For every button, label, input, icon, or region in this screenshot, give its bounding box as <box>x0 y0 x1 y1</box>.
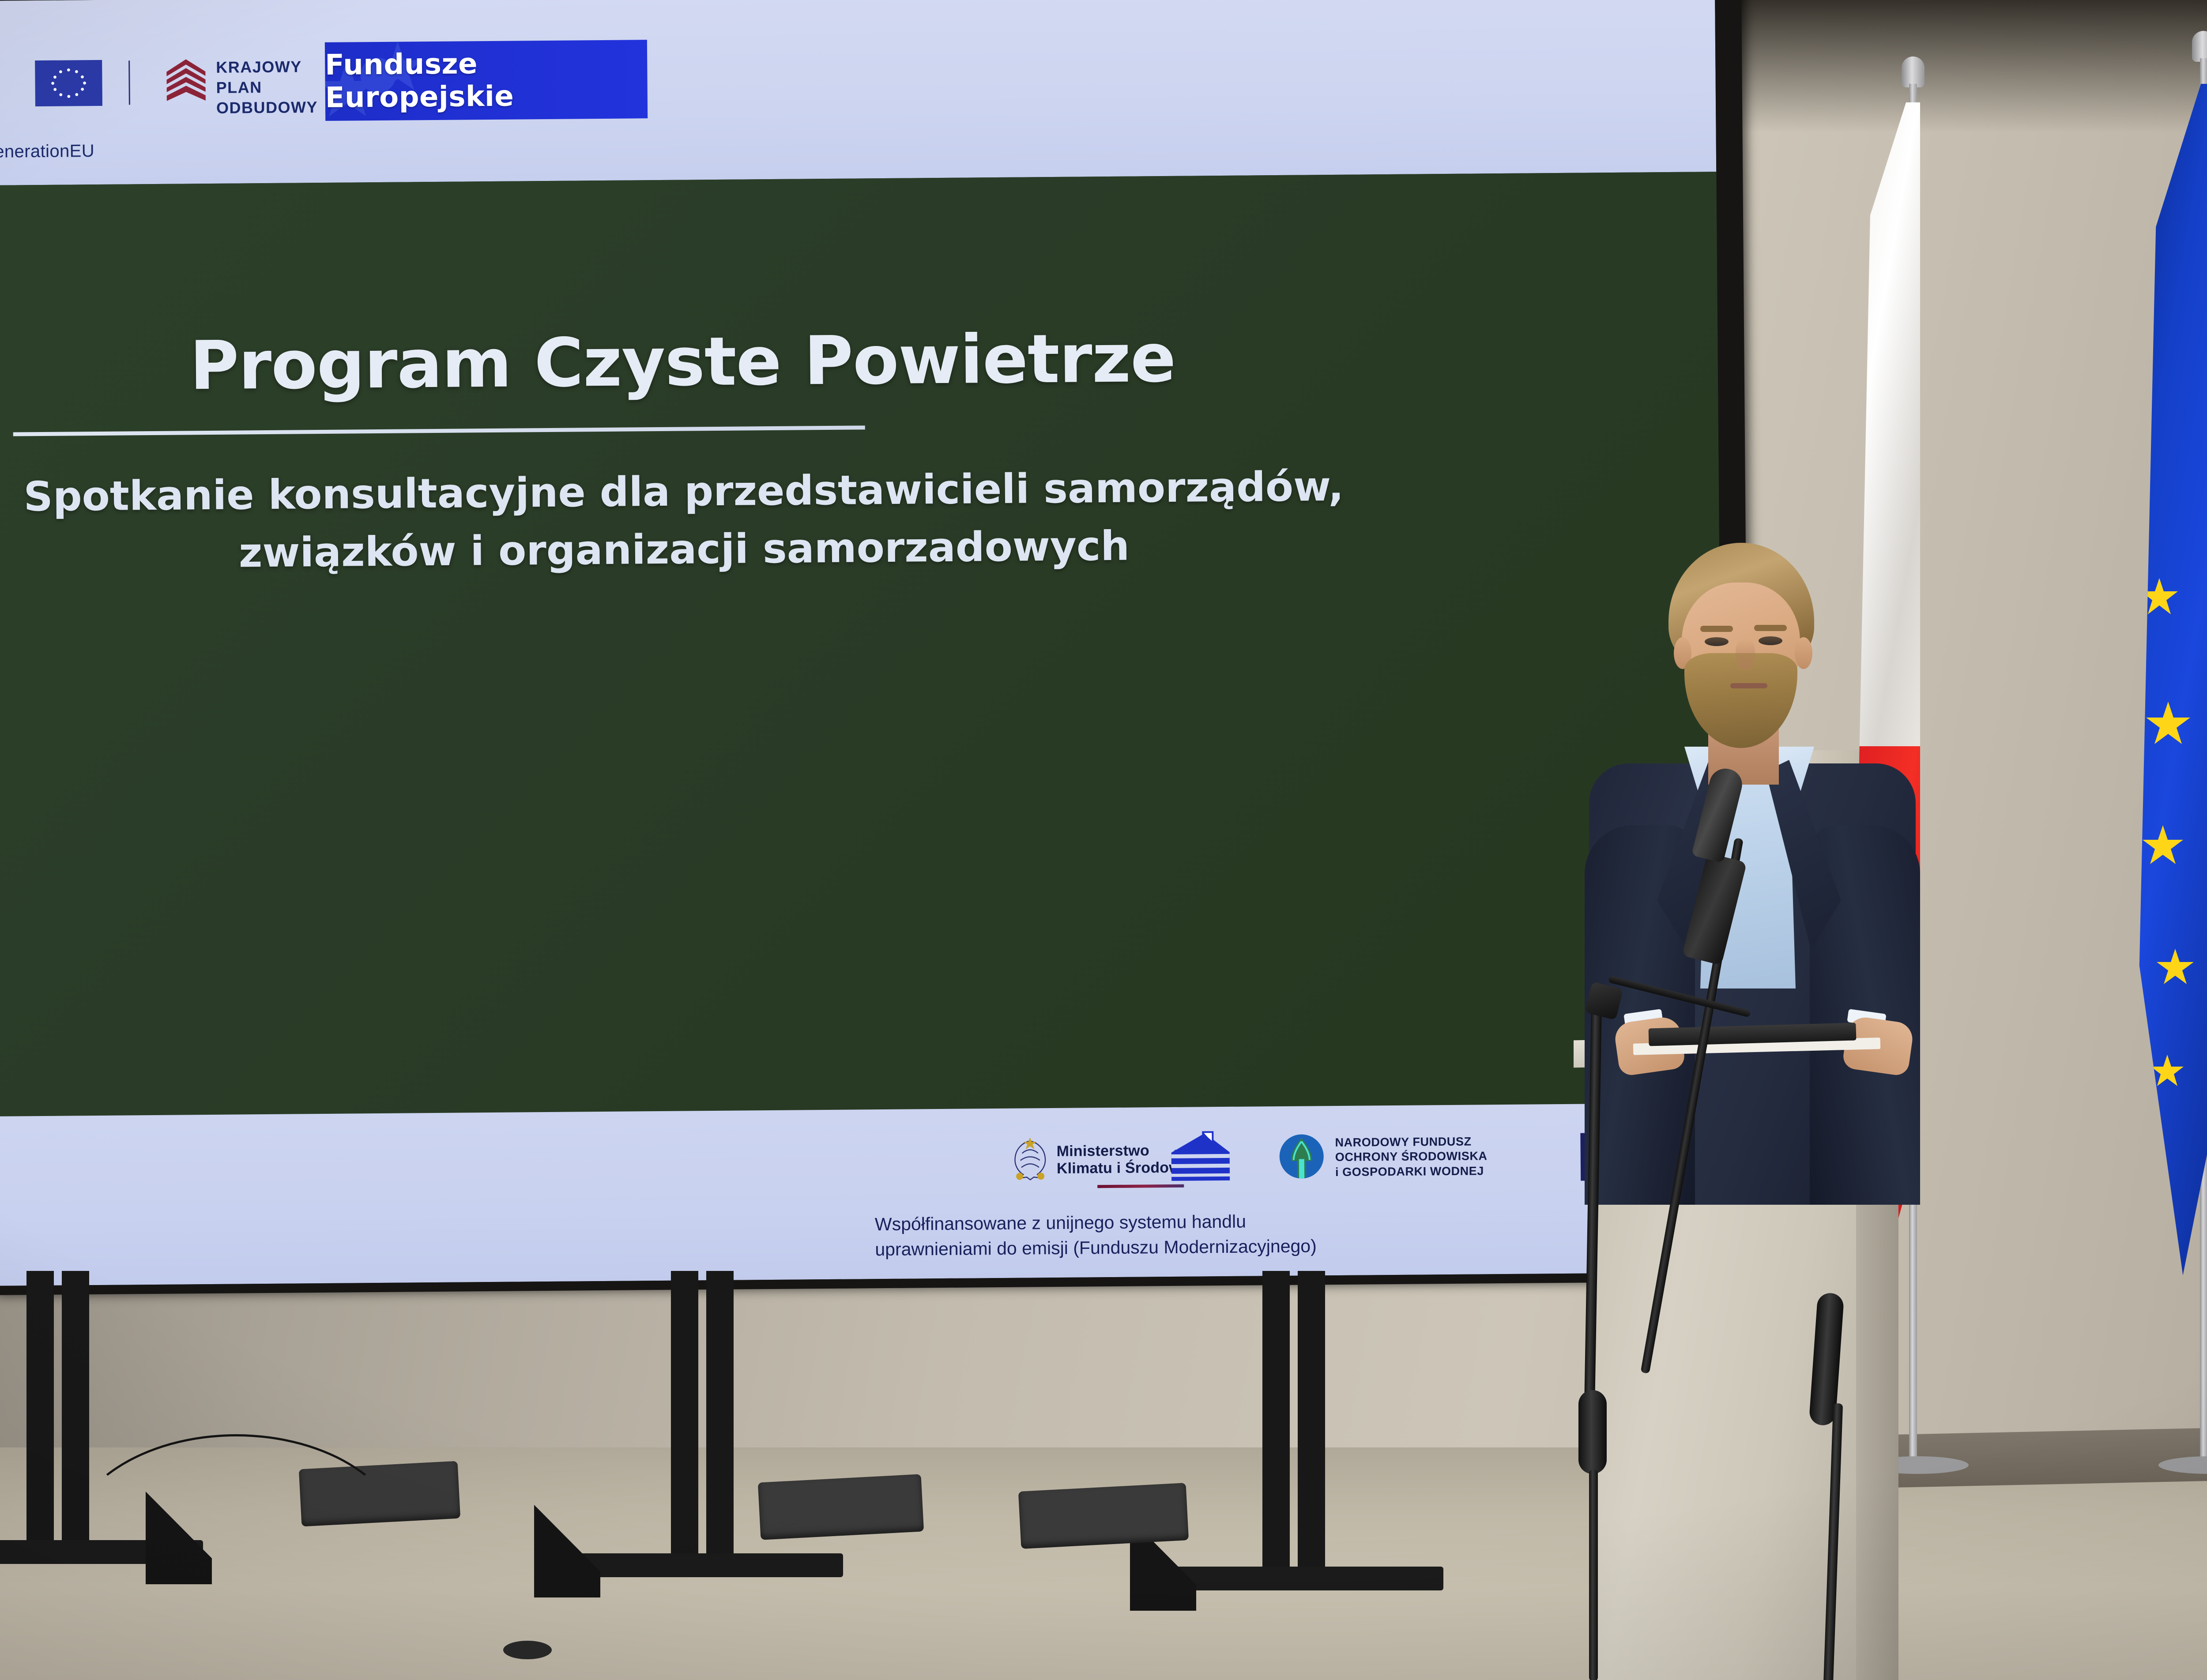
stand-leg-4 <box>706 1271 734 1575</box>
eyebrow-left <box>1700 626 1733 632</box>
microphone-knob-secondary <box>1578 1390 1607 1474</box>
tree-circle-icon <box>1276 1131 1329 1184</box>
floor-cable-puck <box>503 1641 552 1659</box>
nose <box>1736 639 1755 670</box>
house-checkmark-icon: czyste powietrze <box>1168 1131 1234 1184</box>
screen-display: ane przez uropejską <box>0 0 1725 1286</box>
eye-right <box>1759 636 1782 645</box>
kpo-logo-text: KRAJOWY PLAN ODBUDOWY <box>216 56 318 118</box>
czyste-powietrze-logo: czyste powietrze <box>1168 1131 1234 1184</box>
eu-flag-icon <box>35 60 102 106</box>
fundusze-europejskie-badge: Fundusze Europejskie <box>325 40 648 121</box>
cofinance-note: Współfinansowane z unijnego systemu hand… <box>875 1206 1626 1262</box>
speaker-unit-3 <box>1018 1483 1189 1549</box>
stand-foot-angle-2 <box>534 1505 600 1597</box>
nfosigw-text: NARODOWY FUNDUSZ OCHRONY ŚRODOWISKA i GO… <box>1335 1134 1488 1180</box>
presentation-screen[interactable]: ane przez uropejską <box>0 0 1751 1302</box>
mouth <box>1730 683 1767 688</box>
screen-stand <box>0 1271 1748 1633</box>
photo-scene: ane przez uropejską <box>0 0 2207 1680</box>
stand-foot-2 <box>569 1553 843 1577</box>
logo-divider <box>128 60 130 105</box>
ministerstwo-accent-rule <box>1097 1184 1184 1188</box>
slide-main-area <box>0 172 1724 1116</box>
czyste-powietrze-line1: czyste powietrze <box>1174 1147 1220 1154</box>
stand-leg-5 <box>1262 1271 1290 1589</box>
microphone-pole-secondary-lower <box>1589 1470 1598 1680</box>
slide-title: Program Czyste Powietrze <box>0 317 1380 406</box>
eu-stars-icon <box>35 60 102 106</box>
stand-leg-1 <box>26 1271 54 1562</box>
eye-left <box>1705 637 1729 646</box>
ear-right <box>1795 637 1812 669</box>
fundusze-europejskie-label: Fundusze Europejskie <box>325 46 648 114</box>
krajowy-plan-odbudowy-icon <box>164 56 208 106</box>
stand-leg-6 <box>1298 1271 1325 1589</box>
nextgeneration-eu-text: ską – NextGenerationEU <box>0 140 204 162</box>
speaker-unit-2 <box>758 1474 924 1540</box>
polish-eagle-icon <box>1009 1135 1051 1185</box>
slide-logos-row: Ministerstwo Klimatu i Środowiska czyste… <box>0 1103 1725 1286</box>
slide-subtitle: Spotkanie konsultacyjne dla przedstawici… <box>0 458 1382 584</box>
eyebrow-right <box>1754 625 1787 631</box>
flag-finial-eu <box>2192 31 2207 62</box>
stand-foot-3 <box>1161 1567 1443 1590</box>
flag-finial-left <box>1902 56 1925 87</box>
stand-leg-3 <box>671 1271 698 1575</box>
nfosigw-logo: NARODOWY FUNDUSZ OCHRONY ŚRODOWISKA i GO… <box>1276 1130 1488 1184</box>
floor-cable <box>66 1434 406 1659</box>
slide-top-band: ane przez uropejską <box>0 0 1716 185</box>
